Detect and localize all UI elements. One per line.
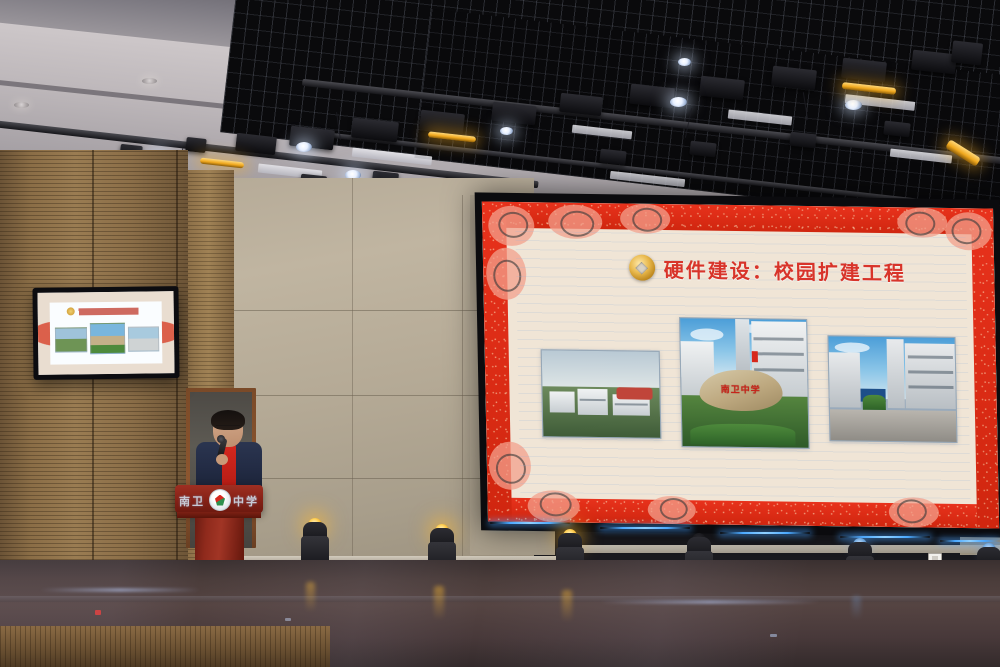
led-wall-blue-accent — [940, 540, 1000, 542]
stage-floor-edge — [0, 596, 1000, 602]
ceiling-spot-lamp — [296, 142, 312, 152]
photo-building-windows — [908, 370, 953, 374]
school-crest-icon — [209, 489, 231, 511]
photo-gate-tower — [829, 353, 860, 408]
podium-top-surface: 南卫 中学 — [175, 485, 263, 513]
wall-panel-seam — [352, 178, 353, 568]
stage-light-fixture — [689, 141, 716, 158]
slide-content-area: 硬件建设：校园扩建工程 — [516, 231, 971, 500]
floor-light-reflection — [434, 586, 444, 620]
slide-red-band — [971, 208, 999, 528]
cloud-swirl-motif — [897, 499, 927, 523]
floor-light-reflection — [306, 582, 315, 612]
wall-baseboard — [560, 545, 1000, 553]
photo-flag — [751, 351, 758, 363]
photo-gate-tower — [905, 343, 957, 409]
led-wall-blue-accent — [490, 522, 570, 524]
led-video-wall[interactable]: 硬件建设：校园扩建工程 — [475, 192, 1000, 537]
led-wall-blue-accent — [720, 532, 810, 534]
stage-light-fixture — [951, 40, 983, 65]
photo-sky — [541, 350, 659, 390]
photo-building-windows — [907, 356, 952, 360]
photo-building-windows — [580, 399, 606, 401]
monitor-slide-photo — [90, 323, 125, 354]
monitor-slide-photo — [55, 327, 87, 353]
photo-building — [549, 392, 575, 413]
glasses-icon — [216, 425, 240, 431]
stage-light-fixture — [883, 121, 910, 138]
monitor-screen — [38, 291, 175, 375]
photo-building-windows — [908, 385, 953, 389]
coin-icon — [67, 308, 75, 316]
floor-light-reflection — [852, 596, 861, 620]
ceiling-spot-lamp — [845, 100, 862, 110]
ceiling-spot-lamp — [500, 127, 513, 135]
floor-debris — [95, 610, 101, 615]
cloud-swirl-motif — [632, 208, 662, 232]
photo-gate-tower — [887, 339, 905, 408]
slide-photo-name-stone: 南卫中学 — [679, 317, 809, 449]
slide-photo-gate-building — [828, 335, 958, 444]
recessed-downlight — [14, 102, 29, 108]
speaker-hand — [216, 454, 228, 465]
photo-building — [577, 389, 608, 415]
floor-light-streak — [40, 588, 200, 592]
photo-ground — [830, 409, 957, 442]
auditorium-scene: 硬件建设：校园扩建工程 — [0, 0, 1000, 667]
led-wall-blue-accent — [600, 527, 690, 529]
wall-mounted-monitor[interactable] — [32, 286, 179, 380]
photo-hedge — [863, 395, 886, 410]
stage-light-fixture — [599, 149, 626, 166]
monitor-slide-photo — [128, 326, 159, 352]
wall-panel-seam — [462, 195, 463, 565]
podium-text-right: 中学 — [233, 493, 259, 509]
floor-light-reflection — [562, 590, 572, 622]
coin-icon — [628, 255, 655, 281]
recessed-downlight — [142, 78, 157, 84]
cloud-swirl-motif — [905, 211, 935, 235]
stage-front-skirt — [0, 626, 330, 667]
led-screen-surface: 硬件建设：校园扩建工程 — [482, 201, 999, 528]
stage-light-fixture — [185, 137, 206, 153]
slide-photo-aerial-campus — [540, 349, 661, 439]
podium-text-left: 南卫 — [179, 493, 205, 509]
cloud-swirl-motif — [660, 498, 688, 520]
photo-cloud — [690, 328, 723, 340]
photo-running-track — [617, 387, 652, 400]
floor-marker — [770, 634, 777, 637]
stone-inscription: 南卫中学 — [721, 382, 761, 396]
floor-light-streak — [600, 600, 820, 604]
ceiling-spot-lamp — [670, 97, 687, 107]
ceiling-spot-lamp — [678, 58, 691, 66]
monitor-slide-title — [74, 308, 141, 316]
stage-light-fixture — [789, 132, 816, 149]
microphone-head — [217, 435, 225, 443]
cloud-swirl-motif — [539, 492, 571, 516]
slide-title: 硬件建设：校园扩建工程 — [663, 254, 906, 286]
photo-hedge — [690, 423, 796, 445]
photo-name-stone: 南卫中学 — [699, 370, 783, 412]
slide-title-row: 硬件建设：校园扩建工程 — [628, 253, 906, 286]
monitor-slide-paper — [50, 301, 162, 365]
floor-marker — [285, 618, 291, 621]
speaker-person — [196, 412, 262, 490]
